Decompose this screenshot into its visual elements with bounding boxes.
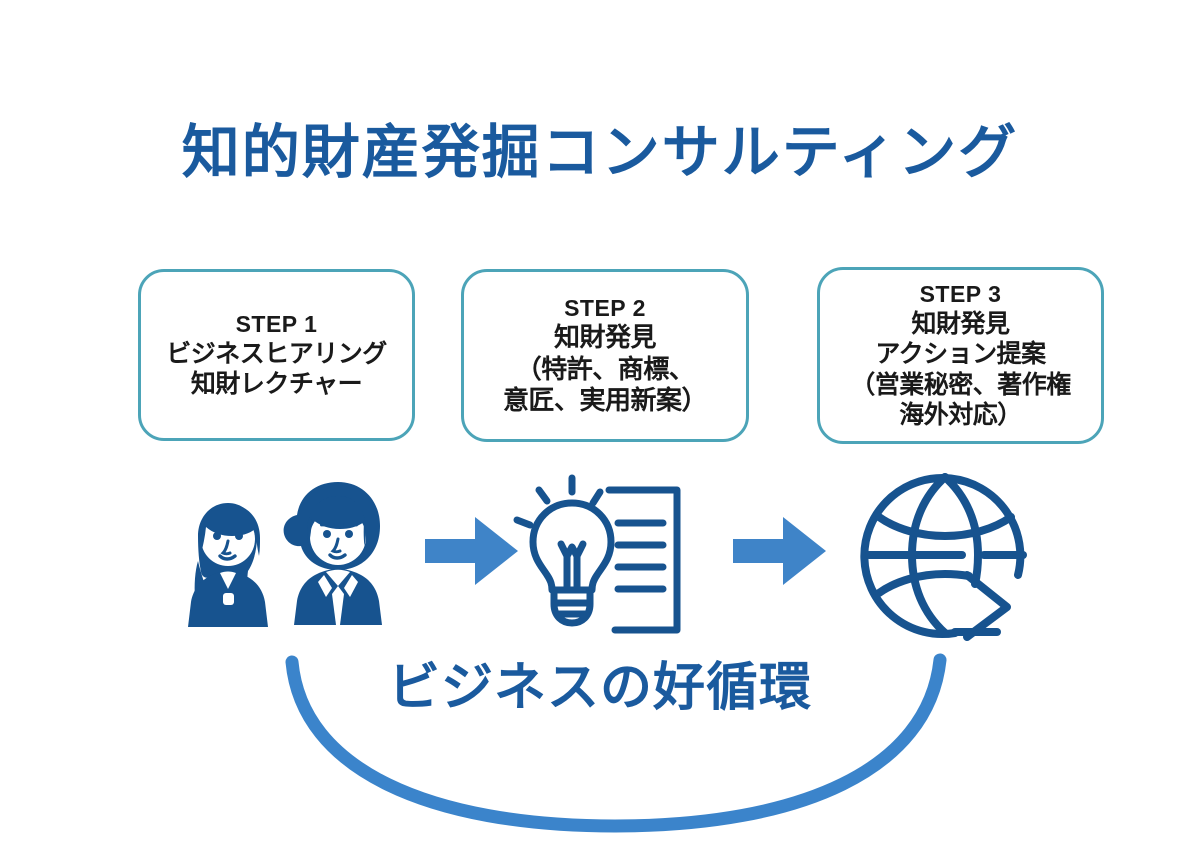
step-1-line-2: 知財レクチャー xyxy=(191,369,362,400)
step-2-line-1: 知財発見 xyxy=(554,322,656,354)
step-box-2: STEP 2 知財発見 （特許、商標、 意匠、実用新案） xyxy=(461,269,749,442)
step-2-line-3: 意匠、実用新案） xyxy=(503,385,707,417)
step-1-line-1: ビジネスヒアリング xyxy=(166,339,387,370)
step-3-line-2: アクション提案 xyxy=(875,339,1045,370)
step-2-heading: STEP 2 xyxy=(564,294,646,322)
step-box-1: STEP 1 ビジネスヒアリング 知財レクチャー xyxy=(138,269,415,441)
cycle-label: ビジネスの好循環 xyxy=(0,662,1200,714)
globe-arrow-icon xyxy=(855,465,1035,645)
step-3-line-1: 知財発見 xyxy=(911,309,1009,340)
step-1-heading: STEP 1 xyxy=(236,310,318,338)
step-2-line-2: （特許、商標、 xyxy=(516,354,695,386)
two-business-people-icon xyxy=(168,465,423,645)
page-title: 知的財産発掘コンサルティング xyxy=(0,124,1200,182)
step-3-line-4: 海外対応） xyxy=(899,400,1022,431)
step-3-line-3: （営業秘密、著作権 xyxy=(850,370,1071,401)
lightbulb-document-icon xyxy=(505,470,700,642)
diagram-canvas: 知的財産発掘コンサルティング STEP 1 ビジネスヒアリング 知財レクチャー … xyxy=(0,0,1200,849)
arrow-step2-to-step3 xyxy=(733,515,828,587)
step-box-3: STEP 3 知財発見 アクション提案 （営業秘密、著作権 海外対応） xyxy=(817,267,1104,444)
step-3-heading: STEP 3 xyxy=(920,280,1002,308)
